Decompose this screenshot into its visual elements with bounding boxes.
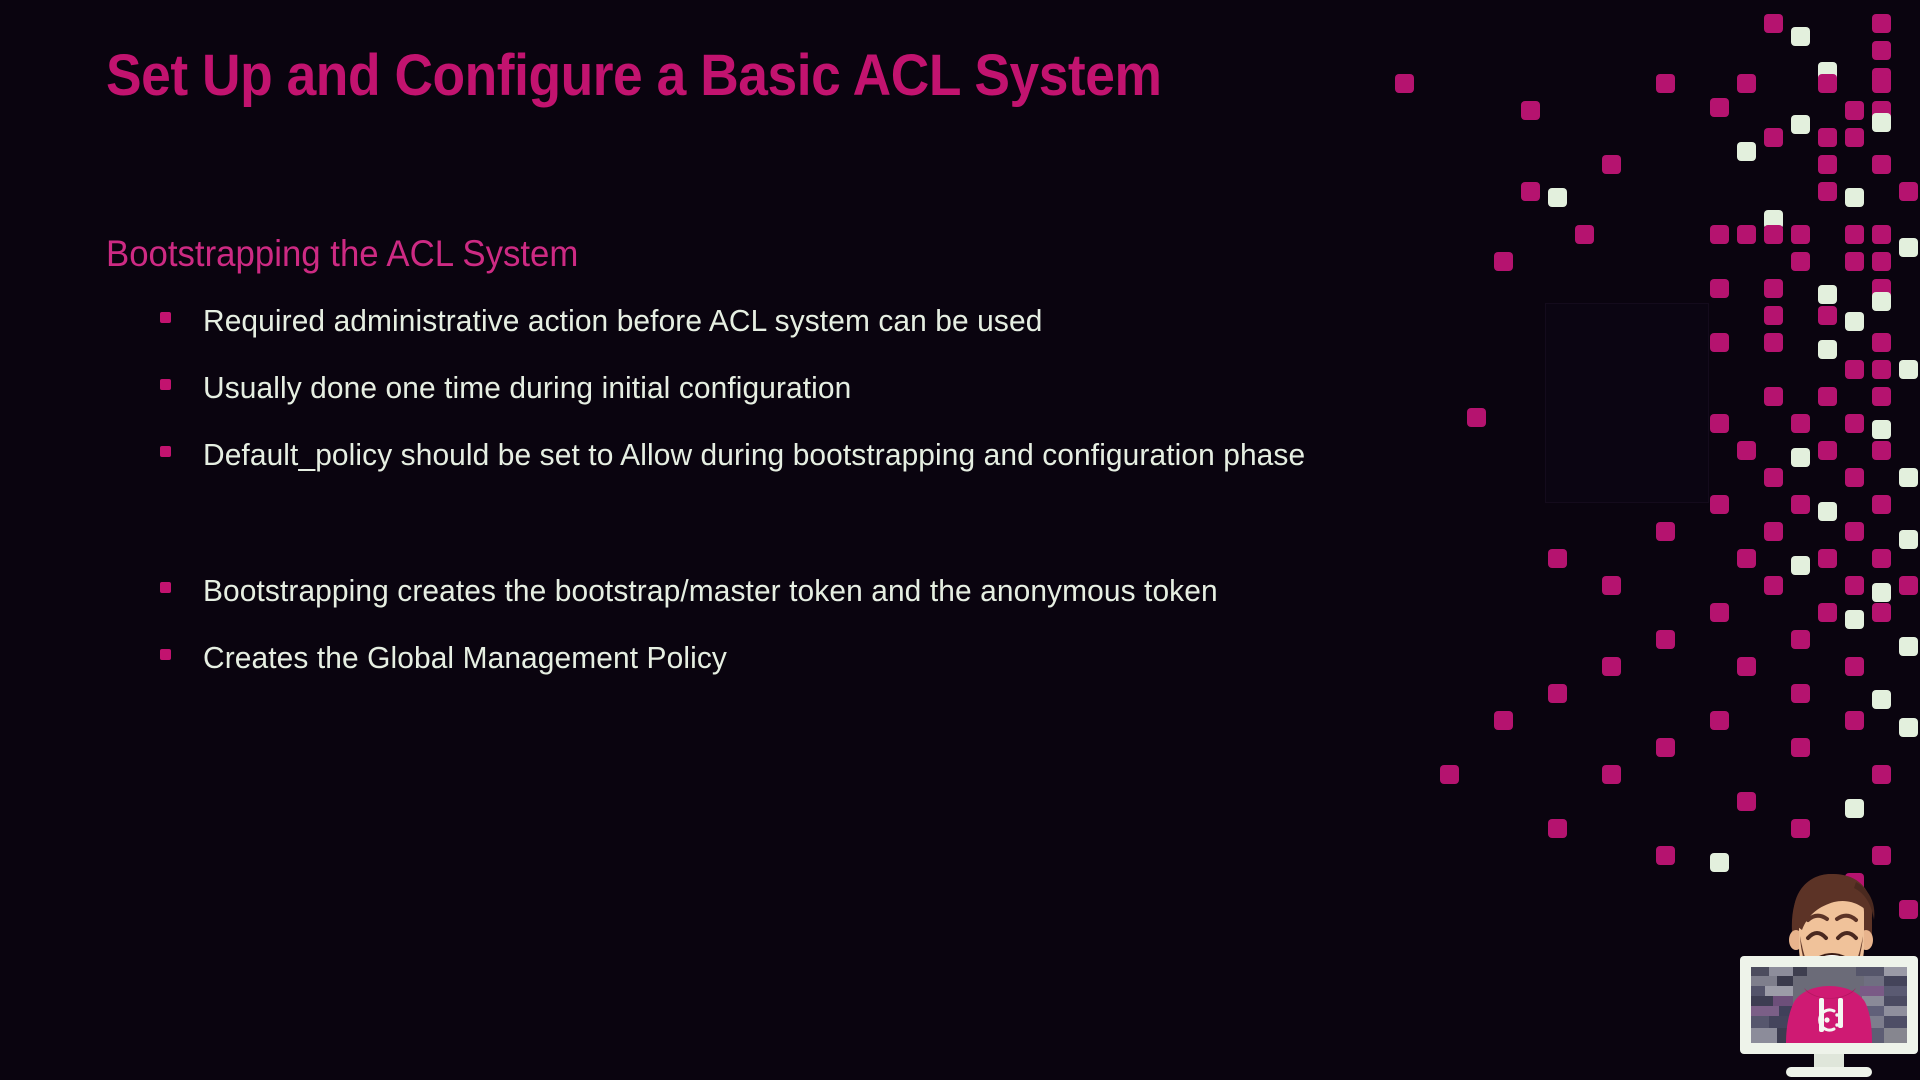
mosaic-pixel: [1764, 387, 1783, 406]
mosaic-pixel: [1710, 414, 1729, 433]
mosaic-pixel: [1845, 799, 1864, 818]
slide-subtitle: Bootstrapping the ACL System: [106, 233, 578, 275]
mosaic-pixel: [1845, 468, 1864, 487]
mosaic-pixel: [1764, 279, 1783, 298]
mosaic-pixel: [1872, 690, 1891, 709]
mosaic-pixel: [1872, 360, 1891, 379]
mosaic-pixel: [1764, 210, 1783, 229]
mosaic-pixel: [1710, 603, 1729, 622]
mosaic-pixel: [1845, 252, 1864, 271]
mosaic-pixel: [1548, 549, 1567, 568]
mosaic-pixel: [1845, 522, 1864, 541]
mosaic-pixel: [1872, 41, 1891, 60]
mosaic-pixel: [1710, 98, 1729, 117]
bullet-item: Usually done one time during initial con…: [160, 372, 1580, 439]
mosaic-pixel: [1845, 312, 1864, 331]
mosaic-pixel: [1494, 252, 1513, 271]
mosaic-pixel: [1872, 333, 1891, 352]
bullet-item-text: Default_policy should be set to Allow du…: [203, 439, 1305, 470]
mosaic-pixel: [1710, 279, 1729, 298]
mosaic-pixel: [1818, 74, 1837, 93]
mosaic-pixel: [1845, 657, 1864, 676]
mosaic-pixel: [1656, 522, 1675, 541]
mosaic-pixel: [1602, 155, 1621, 174]
mosaic-pixel: [1764, 306, 1783, 325]
mosaic-pixel: [1818, 182, 1837, 201]
mosaic-pixel: [1818, 62, 1837, 81]
presenter-avatar-on-monitor: [1738, 862, 1920, 1080]
mosaic-pixel: [1710, 853, 1729, 872]
bullet-marker-icon: [160, 582, 171, 593]
mosaic-pixel: [1872, 74, 1891, 93]
bullet-marker-icon: [160, 649, 171, 660]
presentation-slide: Set Up and Configure a Basic ACL System …: [0, 0, 1920, 1080]
mosaic-pixel: [1791, 738, 1810, 757]
mosaic-pixel: [1791, 684, 1810, 703]
mosaic-pixel: [1818, 340, 1837, 359]
mosaic-pixel: [1818, 155, 1837, 174]
mosaic-pixel: [1872, 765, 1891, 784]
mosaic-pixel: [1602, 657, 1621, 676]
mosaic-pixel: [1791, 252, 1810, 271]
mosaic-pixel: [1656, 630, 1675, 649]
mosaic-pixel: [1602, 765, 1621, 784]
mosaic-pixel: [1791, 115, 1810, 134]
bullet-item-text: Bootstrapping creates the bootstrap/mast…: [203, 575, 1218, 606]
mosaic-pixel: [1899, 468, 1918, 487]
bullet-item-text: Usually done one time during initial con…: [203, 372, 851, 403]
mosaic-pixel: [1899, 530, 1918, 549]
mosaic-pixel: [1656, 738, 1675, 757]
bullet-group-secondary: Bootstrapping creates the bootstrap/mast…: [160, 575, 1580, 709]
mosaic-pixel: [1845, 360, 1864, 379]
bullet-marker-icon: [160, 312, 171, 323]
mosaic-pixel: [1791, 819, 1810, 838]
mosaic-pixel: [1818, 285, 1837, 304]
mosaic-pixel: [1710, 333, 1729, 352]
mosaic-pixel: [1737, 142, 1756, 161]
mosaic-pixel: [1395, 74, 1414, 93]
mosaic-pixel: [1818, 603, 1837, 622]
mosaic-pixel: [1764, 14, 1783, 33]
bullet-marker-icon: [160, 379, 171, 390]
bullet-item: Default_policy should be set to Allow du…: [160, 439, 1580, 506]
mosaic-pixel: [1521, 182, 1540, 201]
bullet-item-text: Creates the Global Management Policy: [203, 642, 727, 673]
mosaic-pixel: [1818, 549, 1837, 568]
bullet-marker-icon: [160, 446, 171, 457]
mosaic-pixel: [1845, 128, 1864, 147]
mosaic-pixel: [1872, 441, 1891, 460]
mosaic-pixel: [1872, 14, 1891, 33]
mosaic-pixel: [1791, 225, 1810, 244]
mosaic-pixel: [1737, 657, 1756, 676]
mosaic-pixel: [1818, 306, 1837, 325]
mosaic-pixel: [1818, 387, 1837, 406]
mosaic-pixel: [1818, 128, 1837, 147]
mosaic-pixel: [1737, 225, 1756, 244]
mosaic-pixel: [1737, 441, 1756, 460]
bullet-item: Required administrative action before AC…: [160, 305, 1580, 372]
mosaic-pixel: [1872, 583, 1891, 602]
mosaic-pixel: [1548, 819, 1567, 838]
slide-title: Set Up and Configure a Basic ACL System: [106, 42, 1161, 109]
mosaic-pixel: [1548, 188, 1567, 207]
bullet-group-primary: Required administrative action before AC…: [160, 305, 1580, 506]
mosaic-pixel: [1764, 576, 1783, 595]
mosaic-pixel: [1899, 637, 1918, 656]
mosaic-pixel: [1872, 279, 1891, 298]
mosaic-pixel: [1818, 441, 1837, 460]
mosaic-pixel: [1899, 360, 1918, 379]
mosaic-pixel: [1845, 414, 1864, 433]
mosaic-pixel: [1872, 495, 1891, 514]
mosaic-pixel: [1899, 576, 1918, 595]
mosaic-pixel: [1872, 225, 1891, 244]
mosaic-pixel: [1710, 225, 1729, 244]
mosaic-pixel: [1791, 495, 1810, 514]
mosaic-pixel: [1872, 155, 1891, 174]
mosaic-pixel: [1710, 711, 1729, 730]
mosaic-pixel: [1737, 74, 1756, 93]
mosaic-pixel: [1602, 576, 1621, 595]
mosaic-pixel: [1791, 448, 1810, 467]
mosaic-pixel: [1845, 225, 1864, 244]
mosaic-pixel: [1494, 711, 1513, 730]
mosaic-pixel: [1791, 27, 1810, 46]
mosaic-pixel: [1656, 74, 1675, 93]
mosaic-pixel: [1521, 101, 1540, 120]
mosaic-pixel: [1818, 502, 1837, 521]
mosaic-pixel: [1764, 522, 1783, 541]
mosaic-pixel: [1872, 292, 1891, 311]
mosaic-pixel: [1872, 420, 1891, 439]
mosaic-pixel: [1845, 610, 1864, 629]
mosaic-pixel: [1656, 846, 1675, 865]
mosaic-pixel: [1872, 549, 1891, 568]
mosaic-pixel: [1845, 188, 1864, 207]
mosaic-pixel: [1872, 101, 1891, 120]
mosaic-pixel: [1791, 414, 1810, 433]
bullet-item: Bootstrapping creates the bootstrap/mast…: [160, 575, 1580, 642]
mosaic-pixel: [1575, 225, 1594, 244]
mosaic-pixel: [1710, 495, 1729, 514]
mosaic-pixel: [1872, 252, 1891, 271]
mosaic-pixel: [1899, 238, 1918, 257]
mosaic-pixel: [1764, 333, 1783, 352]
mosaic-pixel: [1872, 387, 1891, 406]
bullet-item: Creates the Global Management Policy: [160, 642, 1580, 709]
mosaic-pixel: [1872, 113, 1891, 132]
mosaic-pixel: [1845, 576, 1864, 595]
mosaic-pixel: [1872, 68, 1891, 87]
mosaic-pixel: [1899, 182, 1918, 201]
mosaic-pixel: [1764, 128, 1783, 147]
mosaic-pixel: [1845, 101, 1864, 120]
mosaic-pixel: [1845, 711, 1864, 730]
mosaic-pixel: [1791, 630, 1810, 649]
mosaic-pixel: [1791, 556, 1810, 575]
mosaic-pixel: [1872, 603, 1891, 622]
mosaic-pixel: [1899, 718, 1918, 737]
mosaic-pixel: [1764, 468, 1783, 487]
mosaic-pixel: [1440, 765, 1459, 784]
mosaic-pixel: [1737, 549, 1756, 568]
bullet-item-text: Required administrative action before AC…: [203, 305, 1042, 336]
mosaic-pixel: [1737, 792, 1756, 811]
mosaic-pixel: [1764, 225, 1783, 244]
